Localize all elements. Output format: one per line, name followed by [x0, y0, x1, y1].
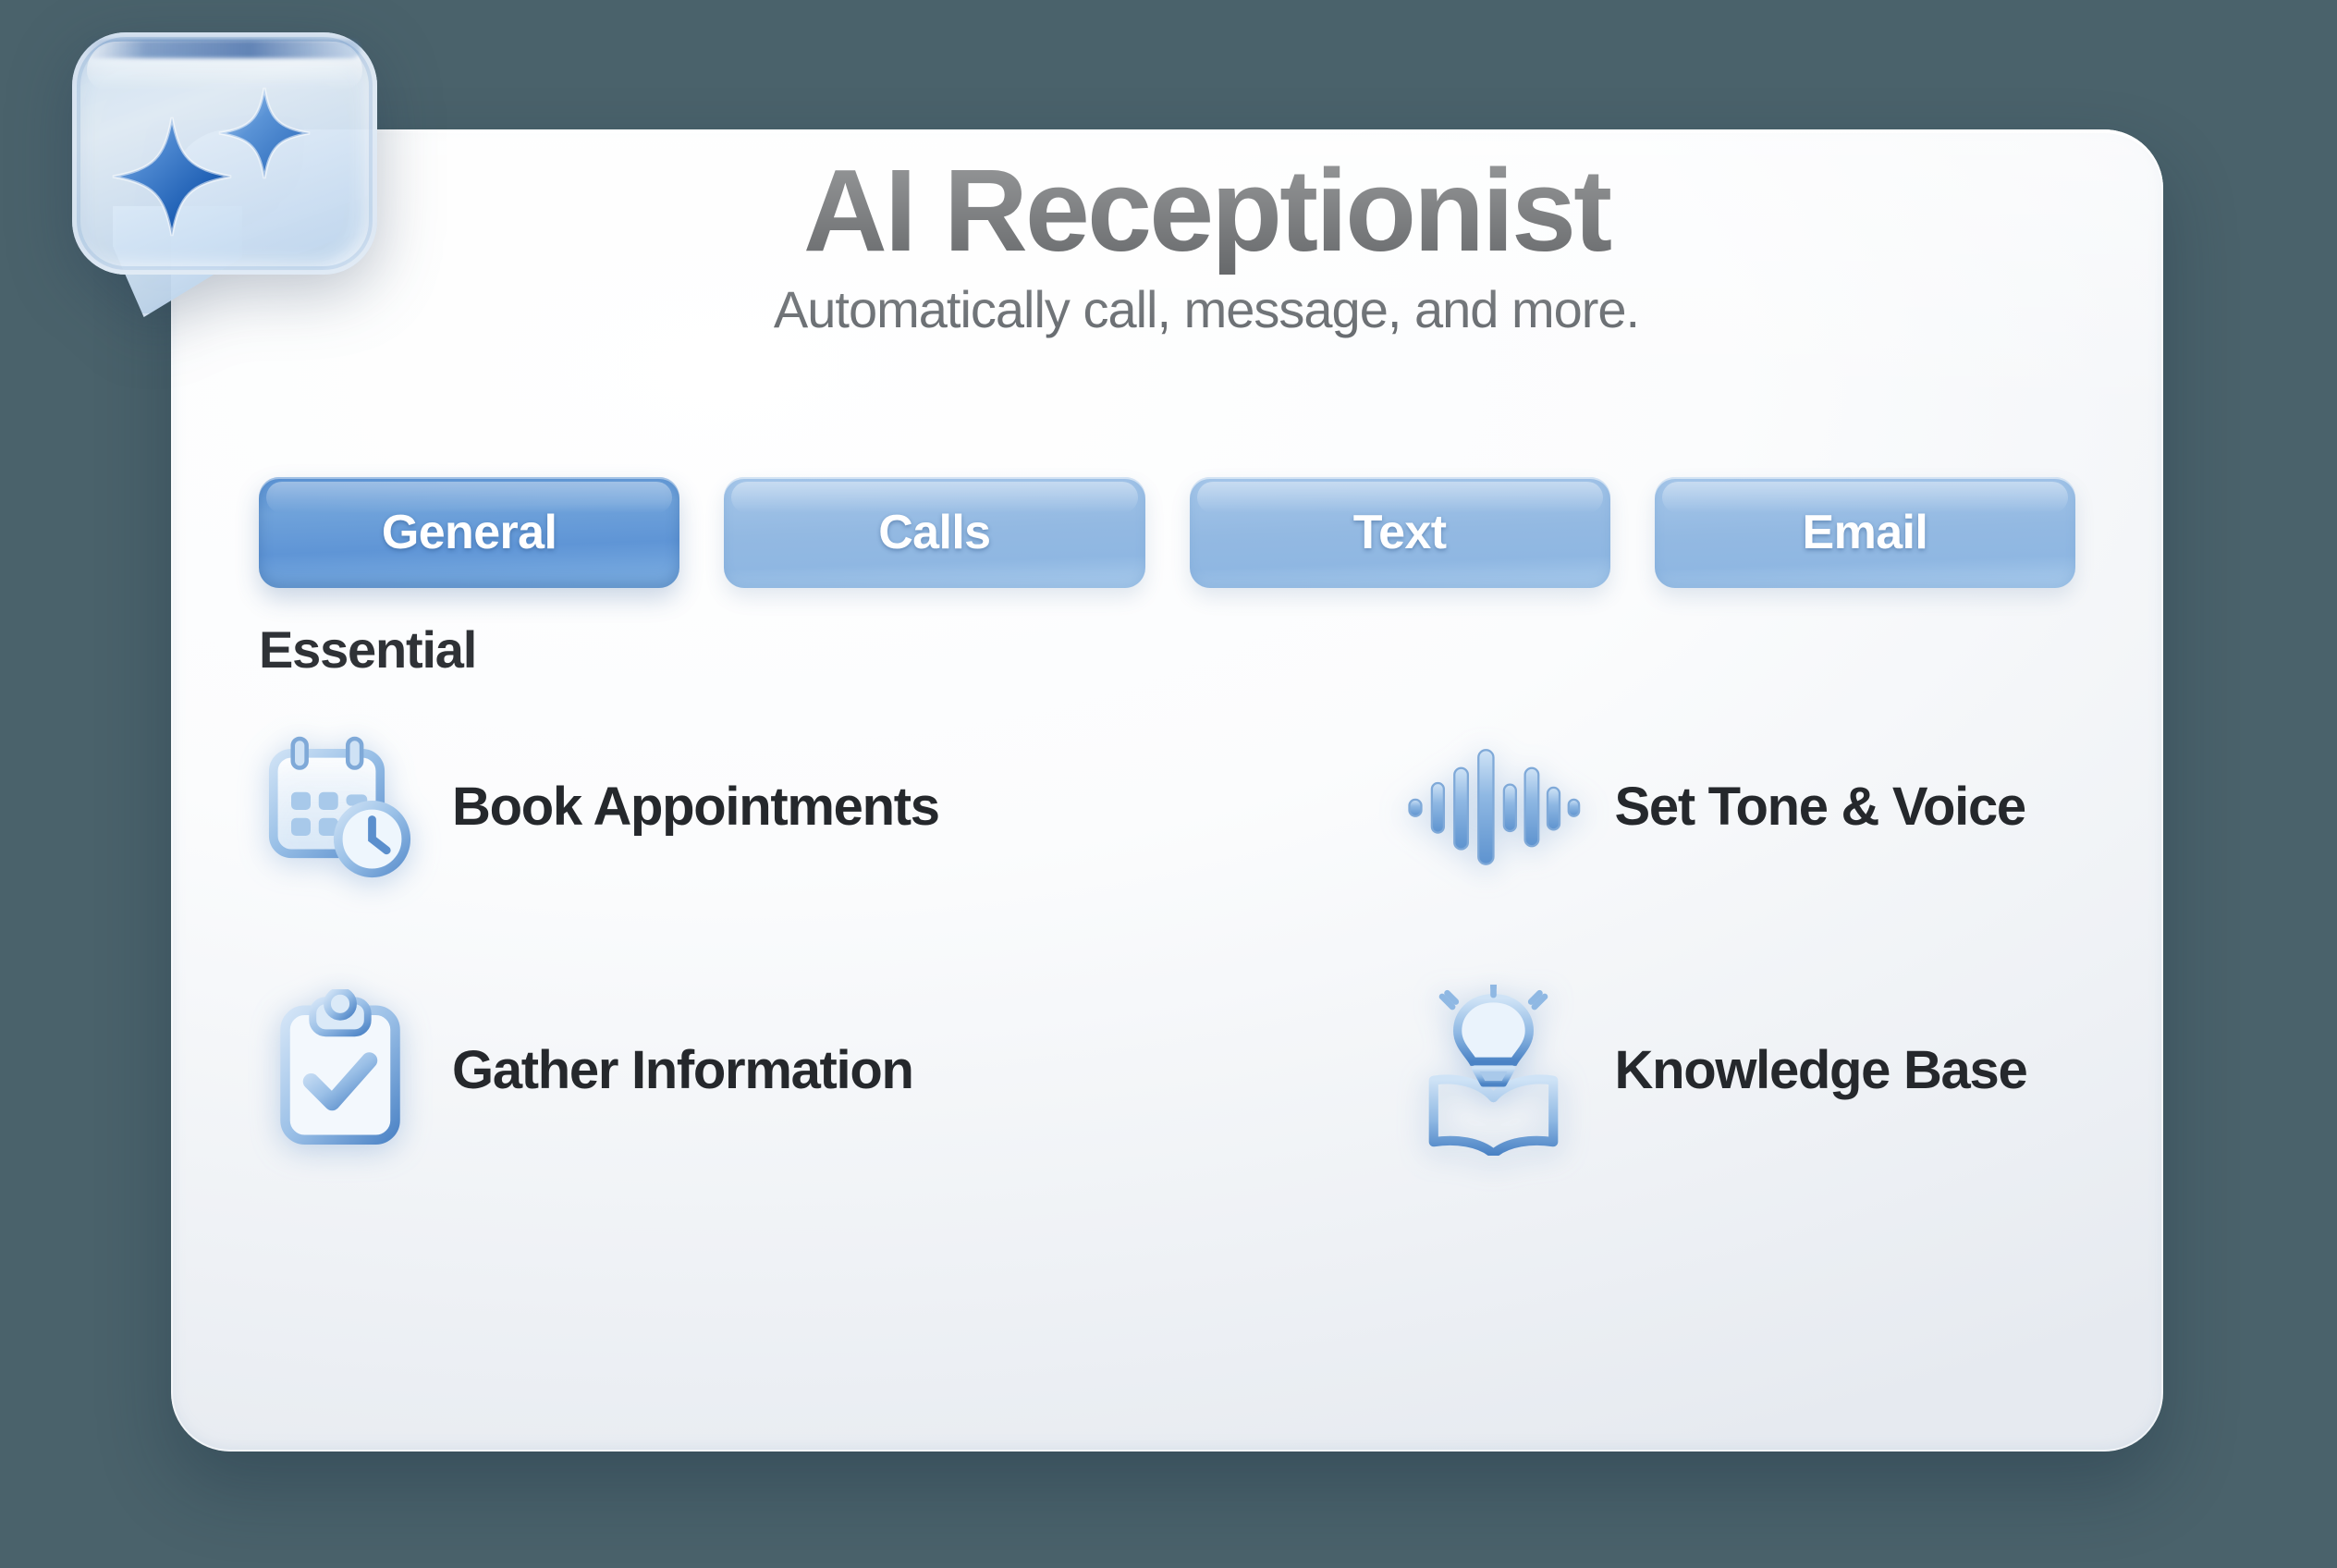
sparkles-speech-bubble-icon	[72, 32, 377, 310]
tab-general-label: General	[382, 505, 557, 560]
clipboard-check-icon	[259, 989, 421, 1151]
feature-label: Set Tone & Voice	[1615, 776, 2025, 838]
page-subtitle: Automatically call, message, and more.	[402, 279, 2011, 339]
tab-email-label: Email	[1803, 505, 1928, 560]
feature-label: Book Appointments	[452, 776, 939, 838]
tab-general[interactable]: General	[259, 477, 679, 588]
feature-label: Gather Information	[452, 1039, 913, 1101]
tab-calls-label: Calls	[878, 505, 990, 560]
feature-label: Knowledge Base	[1615, 1039, 2027, 1101]
tab-calls[interactable]: Calls	[724, 477, 1144, 588]
book-lightbulb-icon	[1403, 989, 1584, 1151]
audio-waveform-icon	[1403, 726, 1584, 888]
feature-knowledge-base[interactable]: Knowledge Base	[1177, 989, 2095, 1151]
page-title: AI Receptionist	[402, 148, 2011, 274]
tab-text-label: Text	[1353, 505, 1447, 560]
section-heading-essential: Essential	[259, 619, 476, 680]
feature-book-appointments[interactable]: Book Appointments	[259, 726, 1177, 888]
sparkle-stars-icon	[72, 32, 377, 275]
tab-bar: General Calls Text Email	[171, 477, 2163, 588]
feature-set-tone-voice[interactable]: Set Tone & Voice	[1177, 726, 2095, 888]
feature-grid: Book Appointments	[259, 726, 2094, 1151]
feature-gather-information[interactable]: Gather Information	[259, 989, 1177, 1151]
tab-email[interactable]: Email	[1655, 477, 2075, 588]
tab-text[interactable]: Text	[1190, 477, 1610, 588]
card-header: AI Receptionist Automatically call, mess…	[402, 148, 2011, 339]
ai-receptionist-card: AI Receptionist Automatically call, mess…	[171, 129, 2163, 1452]
calendar-clock-icon	[259, 726, 421, 888]
